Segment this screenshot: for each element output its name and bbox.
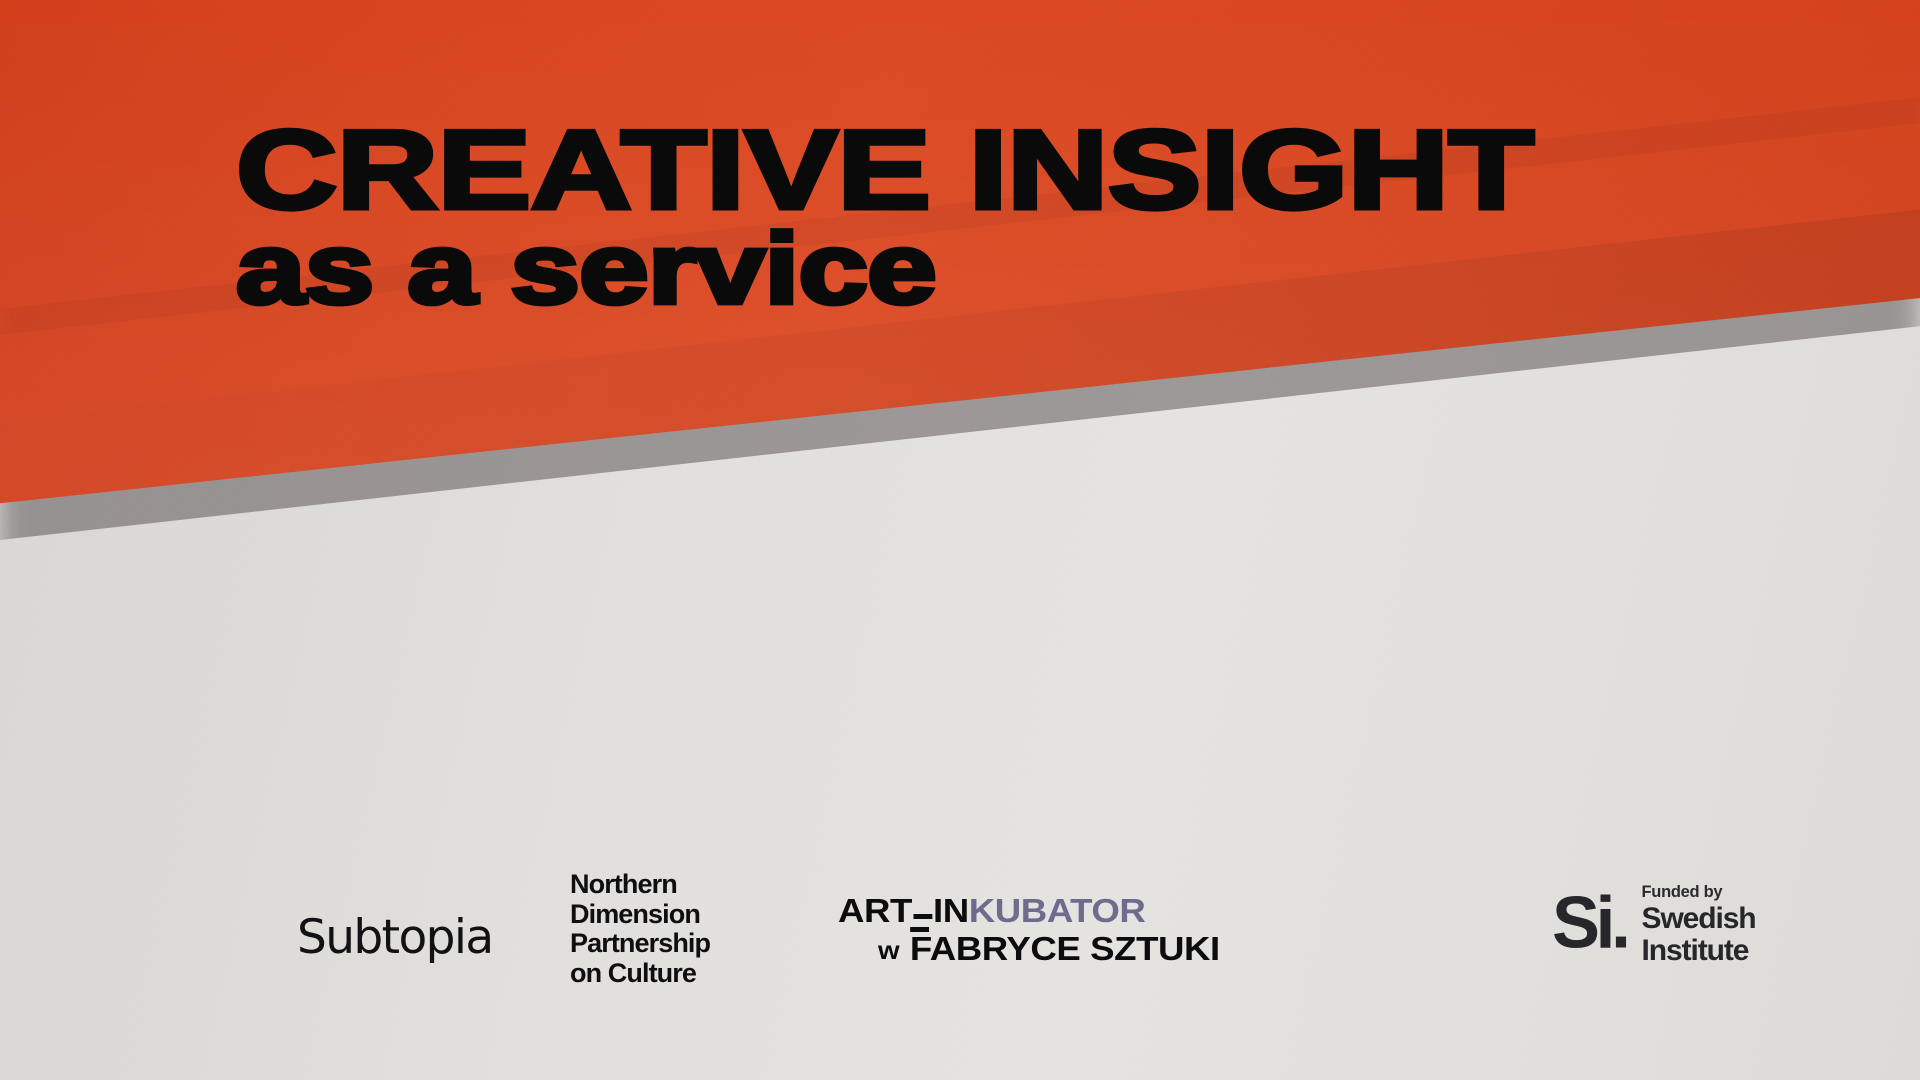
ndpc-logo-line-1: Northern [570, 870, 710, 900]
title-line-primary: CREATIVE INSIGHT [236, 122, 1534, 219]
title-line-secondary: as a service [236, 227, 1534, 313]
swedish-institute-logo-text: Funded by Swedish Institute [1642, 880, 1756, 967]
art-inkubator-word-art: ART [838, 892, 912, 929]
ndpc-logo-line-2: Dimension [570, 900, 710, 930]
swedish-institute-name-line-2: Institute [1642, 935, 1756, 967]
subtopia-logo-wordmark: Subtopia [297, 910, 493, 965]
swedish-institute-funded-by-label: Funded by [1642, 884, 1756, 901]
art-inkubator-logo: ARTINKUBATOR w FABRYCE SZTUKI [838, 894, 1182, 965]
partner-logo-strip: Subtopia Northern Dimension Partnership … [0, 852, 1920, 1002]
art-inkubator-word-fabryce-sztuki: FABRYCE SZTUKI [910, 932, 1220, 965]
swedish-institute-name-line-1: Swedish [1642, 903, 1756, 935]
art-inkubator-word-kubator: KUBATOR [969, 892, 1146, 929]
slide-canvas: CREATIVE INSIGHT as a service Subtopia N… [0, 0, 1920, 1080]
underscore-glyph [913, 914, 932, 919]
northern-dimension-partnership-on-culture-logo: Northern Dimension Partnership on Cultur… [570, 870, 707, 988]
subtopia-logo: Subtopia [297, 914, 493, 961]
art-inkubator-word-w: w [878, 937, 900, 965]
ndpc-logo-line-3: Partnership [570, 929, 710, 959]
art-inkubator-word-in: IN [933, 892, 969, 929]
swedish-institute-logo: Si. Funded by Swedish Institute [1552, 880, 1756, 967]
page-title: CREATIVE INSIGHT as a service [236, 122, 1234, 309]
swedish-institute-si-monogram: Si. [1552, 887, 1627, 960]
art-inkubator-logo-row-bottom: w FABRYCE SZTUKI [838, 932, 1220, 965]
art-inkubator-logo-row-top: ARTINKUBATOR [838, 894, 1220, 927]
ndpc-logo-line-4: on Culture [570, 959, 710, 989]
